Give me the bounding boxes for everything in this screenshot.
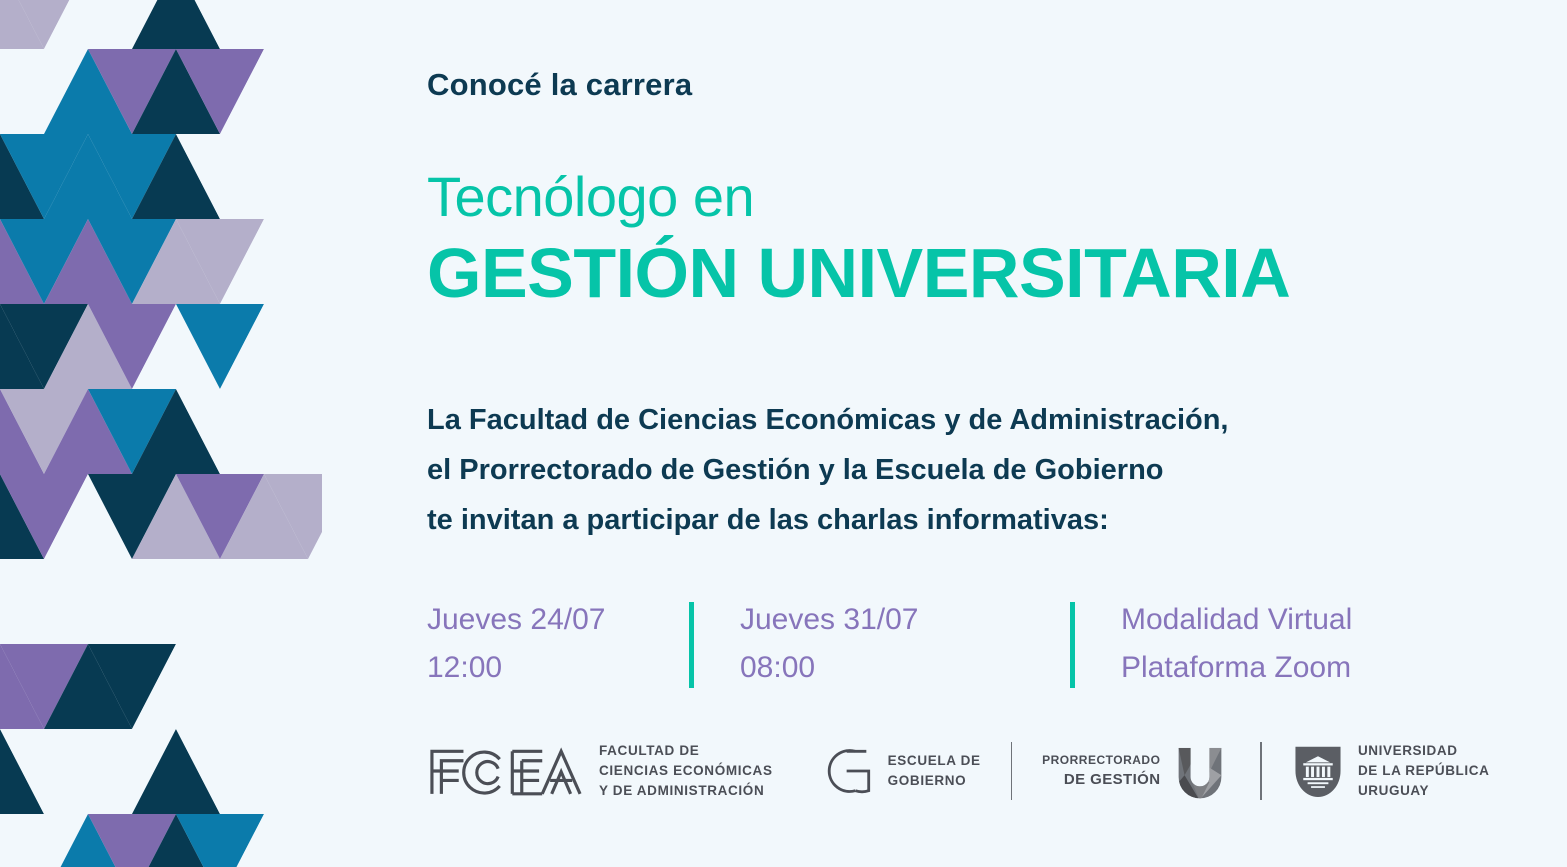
pattern-row-6 (0, 474, 330, 559)
eg-line-2: GOBIERNO (888, 771, 981, 791)
divider-2 (1070, 602, 1075, 688)
pattern-row-5 (0, 389, 308, 474)
description-line-1: La Facultad de Ciencias Económicas y de … (427, 396, 1417, 446)
session-info-row: Jueves 24/07 12:00 Jueves 31/07 08:00 Mo… (427, 596, 1461, 692)
logo-separator-2 (1260, 742, 1262, 800)
udelar-line-3: URUGUAY (1358, 781, 1490, 801)
session-1-time: 12:00 (427, 644, 689, 692)
program-title-line2: GESTIÓN UNIVERSITARIA (427, 237, 1290, 311)
modality: Modalidad Virtual Plataforma Zoom (1121, 596, 1461, 692)
pattern-row-2 (0, 134, 308, 219)
poster-content: Conocé la carrera Tecnólogo en GESTIÓN U… (427, 0, 1437, 867)
escuela-gobierno-monogram-icon (823, 745, 875, 797)
fcea-monogram-icon (427, 745, 585, 797)
poster-canvas: Conocé la carrera Tecnólogo en GESTIÓN U… (0, 0, 1567, 867)
logo-strip: FACULTAD DE CIENCIAS ECONÓMICAS Y DE ADM… (427, 735, 1489, 807)
logo-prorrectorado-gestion: PRORRECTORADO DE GESTIÓN (1042, 741, 1230, 801)
description-block: La Facultad de Ciencias Económicas y de … (427, 396, 1417, 546)
program-title-line1: Tecnólogo en (427, 168, 754, 227)
logo-escuela-gobierno: ESCUELA DE GOBIERNO (773, 745, 981, 797)
fcea-line-2: CIENCIAS ECONÓMICAS (599, 761, 773, 781)
udelar-line-2: DE LA REPÚBLICA (1358, 761, 1490, 781)
fcea-line-1: FACULTAD DE (599, 741, 773, 761)
pattern-row-7 (0, 559, 308, 644)
pattern-row-3 (0, 219, 308, 304)
udelar-line-1: UNIVERSIDAD (1358, 741, 1490, 761)
pattern-row-9 (0, 729, 308, 814)
prorrectorado-u-symbol-icon (1170, 741, 1230, 801)
fcea-line-3: Y DE ADMINISTRACIÓN (599, 781, 773, 801)
pattern-row-8 (0, 644, 308, 729)
divider-1 (689, 602, 694, 688)
logo-udelar: UNIVERSIDAD DE LA REPÚBLICA URUGUAY (1292, 741, 1490, 802)
modality-line-1: Modalidad Virtual (1121, 596, 1461, 644)
fcea-wordmark: FACULTAD DE CIENCIAS ECONÓMICAS Y DE ADM… (599, 741, 773, 802)
pattern-row-10 (0, 814, 308, 867)
pattern-row-1 (0, 49, 308, 134)
description-line-3: te invitan a participar de las charlas i… (427, 496, 1417, 546)
triangle-pattern (0, 0, 330, 867)
eg-line-1: ESCUELA DE (888, 751, 981, 771)
udelar-wordmark: UNIVERSIDAD DE LA REPÚBLICA URUGUAY (1358, 741, 1490, 802)
session-2-time: 08:00 (740, 644, 1070, 692)
logo-fcea: FACULTAD DE CIENCIAS ECONÓMICAS Y DE ADM… (427, 741, 773, 802)
pg-line-2: DE GESTIÓN (1042, 769, 1160, 792)
logo-separator-1 (1011, 742, 1013, 800)
description-line-2: el Prorrectorado de Gestión y la Escuela… (427, 446, 1417, 496)
kicker-text: Conocé la carrera (427, 66, 692, 103)
session-1-date: Jueves 24/07 (427, 596, 689, 644)
session-2-date: Jueves 31/07 (740, 596, 1070, 644)
pg-line-1: PRORRECTORADO (1042, 751, 1160, 769)
pattern-row-0 (0, 0, 308, 49)
session-1: Jueves 24/07 12:00 (427, 596, 689, 692)
session-2: Jueves 31/07 08:00 (740, 596, 1070, 692)
modality-line-2: Plataforma Zoom (1121, 644, 1461, 692)
escuela-gobierno-wordmark: ESCUELA DE GOBIERNO (888, 751, 981, 792)
pattern-row-4 (0, 304, 308, 389)
udelar-shield-icon (1292, 743, 1344, 799)
prorrectorado-wordmark: PRORRECTORADO DE GESTIÓN (1042, 751, 1160, 792)
